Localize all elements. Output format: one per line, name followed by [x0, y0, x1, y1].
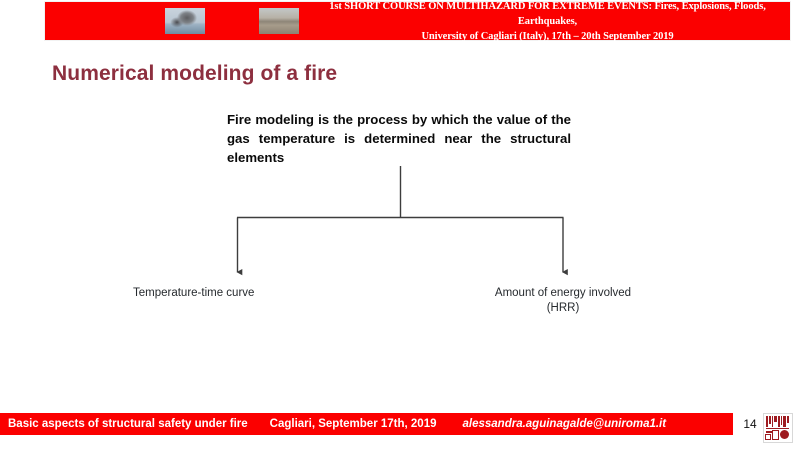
slide-body-statement: Fire modeling is the process by which th…	[227, 110, 571, 167]
university-logo	[763, 413, 793, 443]
slide-page-number: 14	[741, 417, 759, 431]
branch-label-energy-involved: Amount of energy involved (HRR)	[463, 286, 663, 316]
header-course-title: 1st SHORT COURSE ON MULTIHAZARD FOR EXTR…	[299, 0, 790, 44]
header-thumbnail-strip	[165, 8, 299, 34]
footer-place-date: Cagliari, September 17th, 2019	[270, 418, 437, 430]
presentation-footer-banner: Basic aspects of structural safety under…	[0, 413, 733, 435]
branch-label-temperature-time-curve: Temperature-time curve	[133, 286, 254, 301]
footer-email-link[interactable]: alessandra.aguinagalde@uniroma1.it	[463, 418, 667, 430]
header-title-line-2: University of Cagliari (Italy), 17th – 2…	[313, 29, 782, 44]
header-title-line-1: 1st SHORT COURSE ON MULTIHAZARD FOR EXTR…	[313, 0, 782, 29]
fire-thumbnail	[212, 8, 252, 34]
branch-label-energy-line-2: (HRR)	[463, 301, 663, 316]
flood-thumbnail	[259, 8, 299, 34]
presentation-header-banner: 1st SHORT COURSE ON MULTIHAZARD FOR EXTR…	[45, 2, 790, 40]
footer-course-label: Basic aspects of structural safety under…	[8, 418, 248, 430]
explosion-smoke-thumbnail	[165, 8, 205, 34]
page-title: Numerical modeling of a fire	[52, 62, 337, 86]
body-line-1: Fire modeling is the process by which th…	[227, 112, 493, 127]
branch-label-energy-line-1: Amount of energy involved	[463, 286, 663, 301]
university-logo-glyph	[766, 416, 790, 440]
